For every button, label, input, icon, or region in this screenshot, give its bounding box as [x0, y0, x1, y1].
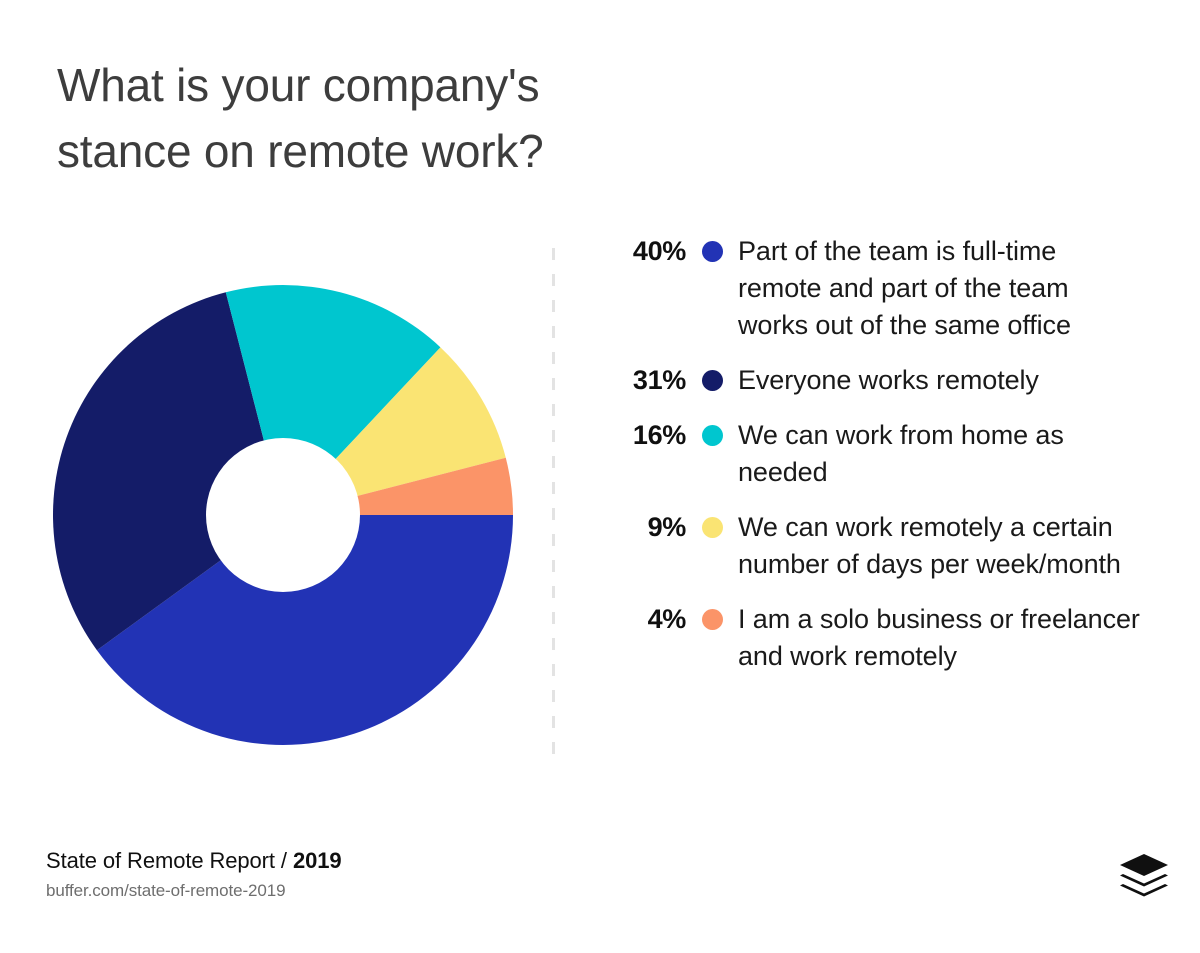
legend-color-dot-icon: [702, 609, 723, 630]
infographic-canvas: What is your company's stance on remote …: [0, 0, 1200, 953]
legend-item-label: Everyone works remotely: [738, 362, 1140, 399]
legend-item-swatch-cell: [686, 601, 738, 630]
stacked-layers-icon: [1118, 852, 1170, 900]
donut-chart-svg: [53, 285, 513, 745]
legend-item-swatch-cell: [686, 509, 738, 538]
vertical-dashed-divider: [552, 248, 555, 766]
page-title-line-2: stance on remote work?: [57, 118, 677, 184]
legend-color-dot-icon: [702, 425, 723, 446]
legend-item-label: We can work from home as needed: [738, 417, 1140, 491]
legend-item[interactable]: 16%We can work from home as needed: [600, 417, 1170, 491]
donut-center-hole: [206, 438, 360, 592]
legend-item-swatch-cell: [686, 417, 738, 446]
legend-color-dot-icon: [702, 241, 723, 262]
donut-chart: [53, 285, 513, 745]
divider-line: [552, 248, 555, 766]
footer-report-title: State of Remote Report / 2019: [46, 846, 746, 876]
page-title-line-1: What is your company's: [57, 52, 677, 118]
footer-year: 2019: [293, 848, 342, 873]
legend-color-dot-icon: [702, 370, 723, 391]
legend-item[interactable]: 9%We can work remotely a certain number …: [600, 509, 1170, 583]
legend-item-percent: 31%: [600, 362, 686, 399]
legend-item[interactable]: 31%Everyone works remotely: [600, 362, 1170, 399]
buffer-logo: [1118, 852, 1170, 900]
legend-item-label: I am a solo business or freelancer and w…: [738, 601, 1140, 675]
legend-item[interactable]: 40%Part of the team is full-time remote …: [600, 233, 1170, 344]
chart-legend: 40%Part of the team is full-time remote …: [600, 233, 1170, 675]
footer-report-name: State of Remote Report: [46, 848, 275, 873]
footer-url[interactable]: buffer.com/state-of-remote-2019: [46, 879, 746, 903]
legend-item-percent: 4%: [600, 601, 686, 638]
legend-item-swatch-cell: [686, 362, 738, 391]
page-title: What is your company's stance on remote …: [57, 52, 677, 184]
legend-item-label: We can work remotely a certain number of…: [738, 509, 1140, 583]
legend-item[interactable]: 4%I am a solo business or freelancer and…: [600, 601, 1170, 675]
legend-item-label: Part of the team is full-time remote and…: [738, 233, 1140, 344]
footer: State of Remote Report / 2019 buffer.com…: [46, 846, 746, 903]
legend-color-dot-icon: [702, 517, 723, 538]
legend-item-swatch-cell: [686, 233, 738, 262]
footer-separator: /: [275, 848, 293, 873]
legend-item-percent: 40%: [600, 233, 686, 270]
legend-item-percent: 16%: [600, 417, 686, 454]
legend-item-percent: 9%: [600, 509, 686, 546]
